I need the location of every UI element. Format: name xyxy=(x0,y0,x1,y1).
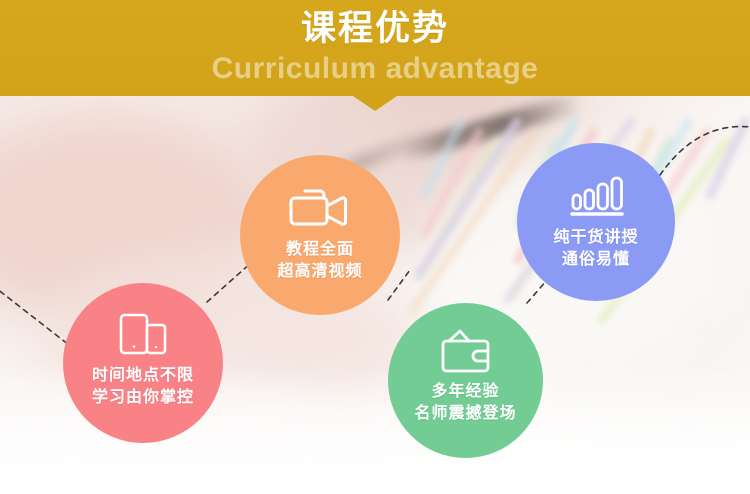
feature-circle-orange[interactable]: 教程全面 超高清视频 xyxy=(240,155,400,315)
feature-line-1: 多年经验 xyxy=(414,381,516,403)
connector-right-arc xyxy=(660,127,750,175)
feature-line-1: 时间地点不限 xyxy=(92,365,194,387)
feature-circle-pink[interactable]: 时间地点不限 学习由你掌控 xyxy=(63,283,223,443)
feature-circle-blue[interactable]: 纯干货讲授 通俗易懂 xyxy=(517,143,675,301)
feature-text-blue: 纯干货讲授 通俗易懂 xyxy=(553,227,638,271)
wallet-icon xyxy=(436,327,496,377)
page-title: 课程优势 xyxy=(301,11,449,46)
feature-text-orange: 教程全面 超高清视频 xyxy=(277,239,362,283)
feature-line-1: 教程全面 xyxy=(277,239,362,261)
feature-circle-green[interactable]: 多年经验 名师震撼登场 xyxy=(388,303,543,458)
feature-line-2: 超高清视频 xyxy=(277,261,362,283)
header-band: 课程优势 Curriculum advantage xyxy=(0,0,750,96)
feature-text-pink: 时间地点不限 学习由你掌控 xyxy=(92,365,194,409)
connector-pink-orange xyxy=(207,262,252,302)
feature-line-2: 学习由你掌控 xyxy=(92,387,194,409)
feature-text-green: 多年经验 名师震撼登场 xyxy=(414,381,516,425)
video-camera-icon xyxy=(285,183,355,235)
header-notch-icon xyxy=(353,96,397,111)
tablet-phone-icon xyxy=(113,309,173,361)
promo-banner: 课程优势 Curriculum advantage 时间地点不限 学习由你掌控 xyxy=(0,0,750,494)
bar-chart-icon xyxy=(566,171,626,221)
page-subtitle: Curriculum advantage xyxy=(212,54,539,84)
feature-line-1: 纯干货讲授 xyxy=(553,227,638,249)
connector-orange-green xyxy=(388,270,410,300)
feature-line-2: 通俗易懂 xyxy=(553,249,638,271)
feature-line-2: 名师震撼登场 xyxy=(414,403,516,425)
